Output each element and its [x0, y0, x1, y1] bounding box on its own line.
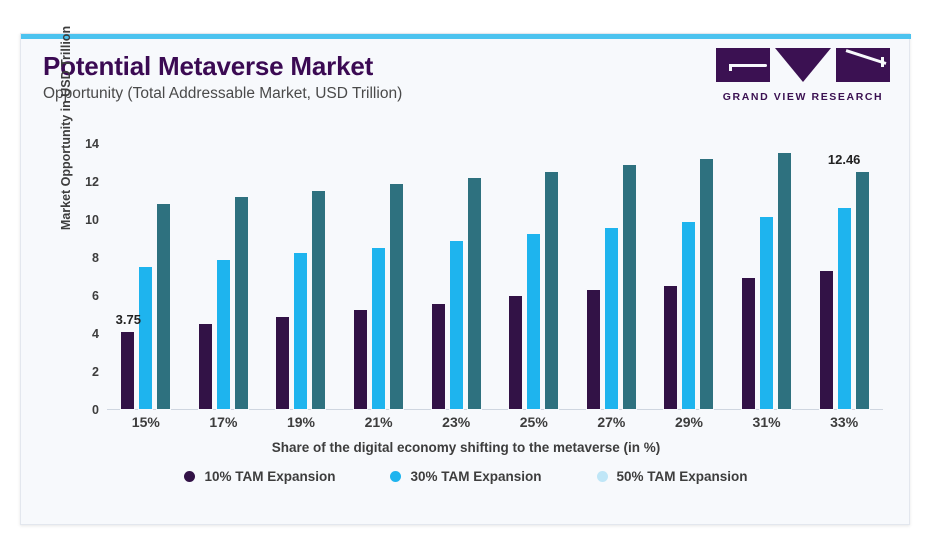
- bar-31pct-series1[interactable]: [759, 216, 774, 410]
- bar-19pct-series1[interactable]: [293, 252, 308, 410]
- legend-marker-icon: [390, 471, 401, 482]
- logo-wordmark: GRAND VIEW RESEARCH: [713, 91, 893, 103]
- bar-group: [198, 144, 249, 410]
- bar-15pct-series1[interactable]: [138, 266, 153, 410]
- bar-21pct-series0[interactable]: [353, 309, 368, 410]
- bar-19pct-series0[interactable]: [275, 316, 290, 410]
- bar-33pct-series2[interactable]: [855, 171, 870, 410]
- legend-item-0[interactable]: 10% TAM Expansion: [184, 469, 335, 484]
- plot-area: Market Opportunity in USD Trillion 02468…: [107, 144, 883, 410]
- page-title: Potential Metaverse Market: [43, 51, 373, 82]
- bar-25pct-series0[interactable]: [508, 295, 523, 410]
- legend-marker-icon: [184, 471, 195, 482]
- accent-bar: [21, 34, 911, 39]
- bar-group: [275, 144, 326, 410]
- x-axis-label: 21%: [340, 414, 418, 430]
- logo-letter-g-icon: [716, 48, 770, 82]
- y-axis-tick: 0: [73, 403, 99, 417]
- legend-label: 10% TAM Expansion: [204, 469, 335, 484]
- x-axis-label: 25%: [495, 414, 573, 430]
- x-axis-label: 31%: [728, 414, 806, 430]
- bar-25pct-series1[interactable]: [526, 233, 541, 410]
- bar-23pct-series1[interactable]: [449, 240, 464, 410]
- bar-27pct-series2[interactable]: [622, 164, 637, 410]
- y-axis-title: Market Opportunity in USD Trillion: [59, 8, 73, 248]
- bar-value-label: 3.75: [116, 312, 141, 327]
- bar-31pct-series2[interactable]: [777, 152, 792, 411]
- bar-groups: 3.7512.46: [107, 144, 883, 410]
- bar-group: [353, 144, 404, 410]
- y-axis-tick: 6: [73, 289, 99, 303]
- bar-15pct-series0[interactable]: [120, 331, 135, 410]
- bar-group: [586, 144, 637, 410]
- bar-33pct-series1[interactable]: [837, 207, 852, 410]
- legend-label: 30% TAM Expansion: [410, 469, 541, 484]
- bar-17pct-series1[interactable]: [216, 259, 231, 410]
- bar-group: 3.75: [120, 144, 171, 410]
- bar-23pct-series0[interactable]: [431, 303, 446, 410]
- logo-letter-r-icon: [836, 48, 890, 82]
- logo-mark-icon: [713, 48, 893, 84]
- bar-21pct-series2[interactable]: [389, 183, 404, 410]
- y-axis-tick: 4: [73, 327, 99, 341]
- chart-legend: 10% TAM Expansion30% TAM Expansion50% TA…: [21, 469, 911, 484]
- bar-29pct-series0[interactable]: [663, 285, 678, 411]
- y-axis-tick: 2: [73, 365, 99, 379]
- bar-25pct-series2[interactable]: [544, 171, 559, 410]
- x-axis-label: 27%: [573, 414, 651, 430]
- bar-group: [431, 144, 482, 410]
- bar-group: [508, 144, 559, 410]
- bar-group: [741, 144, 792, 410]
- bar-29pct-series2[interactable]: [699, 158, 714, 410]
- legend-item-2[interactable]: 50% TAM Expansion: [597, 469, 748, 484]
- bar-value-label: 12.46: [828, 152, 861, 167]
- y-axis-tick: 8: [73, 251, 99, 265]
- x-axis-labels: 15%17%19%21%23%25%27%29%31%33%: [107, 414, 883, 430]
- x-axis-label: 29%: [650, 414, 728, 430]
- bar-15pct-series2[interactable]: [156, 203, 171, 410]
- x-axis-label: 17%: [185, 414, 263, 430]
- x-axis-title: Share of the digital economy shifting to…: [21, 440, 911, 455]
- bar-group: 12.46: [819, 144, 870, 410]
- bar-33pct-series0[interactable]: [819, 270, 834, 410]
- bar-19pct-series2[interactable]: [311, 190, 326, 411]
- page-subtitle: Opportunity (Total Addressable Market, U…: [43, 85, 402, 103]
- bar-29pct-series1[interactable]: [681, 221, 696, 410]
- x-axis-label: 19%: [262, 414, 340, 430]
- bar-17pct-series2[interactable]: [234, 196, 249, 410]
- bar-17pct-series0[interactable]: [198, 323, 213, 410]
- legend-label: 50% TAM Expansion: [617, 469, 748, 484]
- legend-item-1[interactable]: 30% TAM Expansion: [390, 469, 541, 484]
- chart-card: Potential Metaverse Market Opportunity (…: [20, 33, 910, 525]
- bar-group: [663, 144, 714, 410]
- y-axis-tick: 12: [73, 175, 99, 189]
- x-axis-label: 23%: [417, 414, 495, 430]
- bar-23pct-series2[interactable]: [467, 177, 482, 410]
- x-axis-label: 15%: [107, 414, 185, 430]
- brand-logo: GRAND VIEW RESEARCH: [713, 48, 893, 103]
- bar-21pct-series1[interactable]: [371, 247, 386, 411]
- legend-marker-icon: [597, 471, 608, 482]
- chart-page: Potential Metaverse Market Opportunity (…: [0, 0, 931, 551]
- y-axis-tick: 10: [73, 213, 99, 227]
- bar-27pct-series1[interactable]: [604, 227, 619, 410]
- y-axis-tick: 14: [73, 137, 99, 151]
- logo-letter-v-icon: [775, 48, 831, 82]
- x-axis-label: 33%: [805, 414, 883, 430]
- bar-31pct-series0[interactable]: [741, 277, 756, 410]
- bar-27pct-series0[interactable]: [586, 289, 601, 410]
